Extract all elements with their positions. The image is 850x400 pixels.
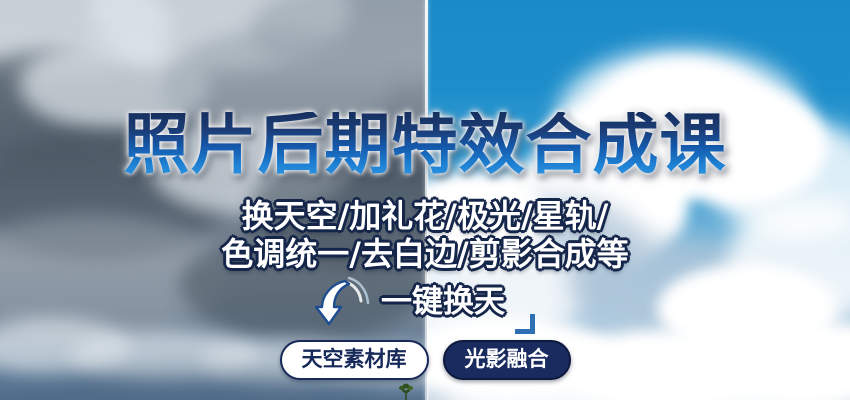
corner-bracket-icon (515, 314, 535, 334)
subtitle-line-2: 色调统一/去白边/剪影合成等 (0, 238, 850, 270)
banner-content: 照片后期特效合成课 照片后期特效合成课 换天空/加礼花/极光/星轨/ 色调统一/… (0, 0, 850, 400)
badge-light-shadow-blend[interactable]: 光影融合 (443, 340, 571, 380)
one-click-sky-label: 一键换天 (381, 287, 505, 318)
sky-replacement-course-banner: 照片后期特效合成课 照片后期特效合成课 换天空/加礼花/极光/星轨/ 色调统一/… (0, 0, 850, 400)
subtitle-line-1: 换天空/加礼花/极光/星轨/ (0, 200, 850, 232)
feature-badge-group: 天空素材库 光影融合 (0, 340, 850, 380)
badge-sky-asset-library[interactable]: 天空素材库 (280, 340, 429, 380)
curved-down-arrow-icon (315, 276, 371, 328)
one-click-sky-row: 一键换天 (0, 276, 850, 328)
page-title: 照片后期特效合成课 (0, 112, 850, 178)
